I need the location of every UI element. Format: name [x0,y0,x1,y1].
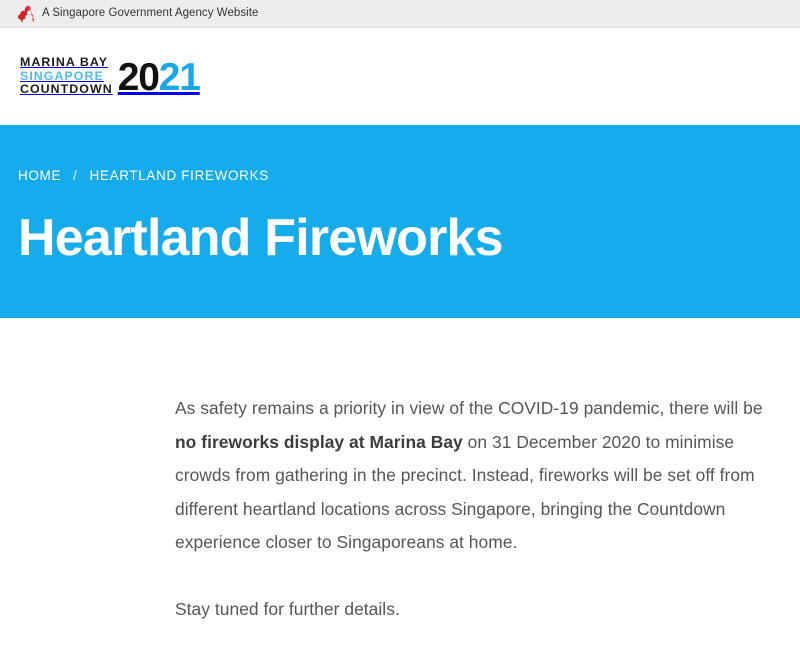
breadcrumb-item-home[interactable]: HOME [18,169,61,183]
paragraph-1-text-before-bold: As safety remains a priority in view of … [175,398,763,418]
hero-banner: HOME / HEARTLAND FIREWORKS Heartland Fir… [0,125,800,318]
site-logo[interactable]: MARINA BAY SINGAPORE COUNTDOWN 20 21 [20,56,200,97]
body-paragraph-1: As safety remains a priority in view of … [175,392,778,560]
paragraph-2-text: Stay tuned for further details. [175,599,400,619]
logo-line-countdown: COUNTDOWN [20,83,113,97]
content-column: As safety remains a priority in view of … [175,318,778,626]
page-title: Heartland Fireworks [18,183,800,266]
site-header: MARINA BAY SINGAPORE COUNTDOWN 20 21 [0,28,800,125]
logo-year-21: 21 [159,58,200,97]
logo-year: 20 21 [118,58,200,97]
government-notice-bar: A Singapore Government Agency Website [0,0,800,28]
logo-wordmark: MARINA BAY SINGAPORE COUNTDOWN [20,56,113,97]
breadcrumb: HOME / HEARTLAND FIREWORKS [18,125,800,183]
body-paragraph-2: Stay tuned for further details. [175,593,778,627]
logo-line-singapore: SINGAPORE [20,70,113,84]
breadcrumb-item-current: HEARTLAND FIREWORKS [90,169,269,183]
breadcrumb-separator: / [73,169,77,183]
singapore-lion-head-icon [18,5,34,23]
main-content: As safety remains a priority in view of … [0,318,800,626]
paragraph-1-bold-phrase: no fireworks display at Marina Bay [175,432,463,452]
logo-line-marina-bay: MARINA BAY [20,56,113,70]
government-notice-text: A Singapore Government Agency Website [42,8,258,20]
logo-year-20: 20 [118,58,159,97]
